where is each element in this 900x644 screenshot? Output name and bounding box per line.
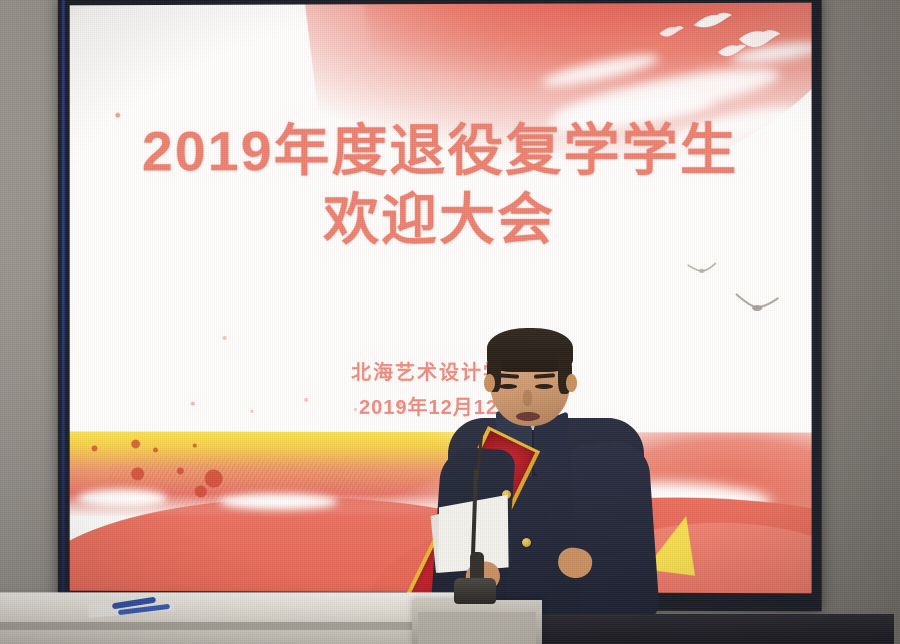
bird-icon <box>687 262 717 276</box>
ink-blob <box>177 467 184 474</box>
decorative-dot <box>115 113 120 118</box>
speaker-nose <box>523 390 532 406</box>
table-edge <box>0 622 460 630</box>
ink-blob <box>205 470 223 488</box>
ink-blob <box>92 445 98 451</box>
speaker-eye-left <box>499 384 517 389</box>
conference-room-photo: 2019年度退役复学学生 欢迎大会 北海艺术设计学院 2019年12月12日 <box>0 0 900 644</box>
ink-blob <box>131 467 144 480</box>
dove-icon <box>693 11 733 33</box>
bird-icon <box>735 292 779 314</box>
dove-icon <box>717 43 747 61</box>
decorative-dot <box>223 336 227 340</box>
podium-front <box>418 612 536 644</box>
speaker-ear-left <box>484 374 495 392</box>
ink-blob <box>131 439 140 448</box>
slide-title-line-2: 欢迎大会 <box>70 191 812 249</box>
speaker-mouth <box>516 412 540 421</box>
front-table <box>0 592 461 644</box>
ink-blob <box>193 444 197 448</box>
microphone-base <box>454 578 496 604</box>
foam-wisp <box>219 493 339 509</box>
uniform-button <box>522 538 531 547</box>
speaker-arm-right <box>570 440 661 627</box>
dark-desk <box>534 614 894 644</box>
speaker-eye-right <box>535 384 553 389</box>
screen-frame-edge <box>62 0 65 609</box>
ink-blob <box>195 485 207 497</box>
dove-icon <box>659 25 685 40</box>
foam-wisp <box>78 489 167 507</box>
speaker-ear-right <box>566 374 577 392</box>
ink-blob <box>153 448 158 453</box>
